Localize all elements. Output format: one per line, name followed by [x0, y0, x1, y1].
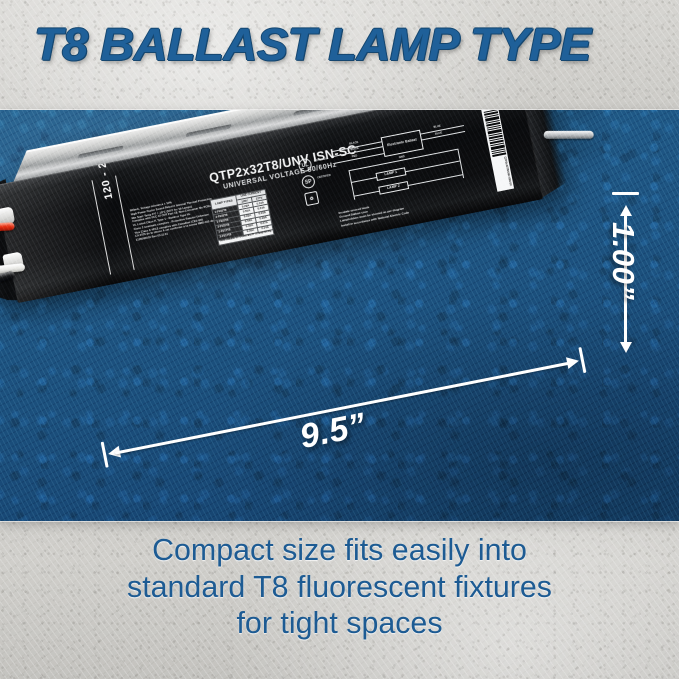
mounting-bracket	[0, 179, 30, 308]
input-wire-white	[0, 263, 25, 281]
arrowhead-right	[566, 354, 580, 368]
table-row: 2-F032T8 0.55A 0.24A	[213, 204, 269, 220]
diagram-bus	[351, 177, 377, 183]
cell-footnote: Also suitable for U-bent and 8' T8 lamp …	[218, 230, 274, 245]
diagram-lead	[333, 146, 382, 156]
caption-line-1: Compact size fits easily into	[7, 532, 672, 569]
caption-line-2: standard T8 fluorescent fixtures	[7, 569, 672, 606]
csa-certified-icon: SP	[301, 174, 316, 189]
diagram-instruction-notes: Insulate unused leads Ground Ballast cas…	[338, 198, 409, 228]
voltage-rule	[91, 180, 111, 274]
diagram-lead	[332, 141, 381, 151]
diagram-bus	[457, 149, 464, 179]
model-number-text: QTP2x32T8/UNV ISN-SC	[208, 143, 358, 186]
th-lamp-types: LAMP TYPES	[210, 195, 238, 210]
th-277v: 277V	[251, 194, 267, 202]
barcode-text: QTP2x32T8/UNV ISN-SC	[493, 156, 513, 188]
diagram-lead	[335, 153, 384, 163]
diagram-tag-blue2: BLUE	[435, 131, 443, 135]
diagram-ballast-box: Electronic Ballast	[381, 130, 424, 157]
table-row: 1-F017T8 0.16A 0.07A	[216, 220, 272, 236]
cell-120v: 0.55A	[239, 207, 255, 215]
csa-certified-caption: CERTIFIED	[317, 174, 331, 180]
table-row: 2-F017T8 0.30A 0.14A	[217, 225, 273, 241]
cell-lamp: 2-F017T8	[217, 230, 244, 240]
spec-line: 660mA, Voltage tolerance ± 10%	[130, 196, 201, 214]
diagram-lead	[421, 125, 464, 134]
caption-line-3: for tight spaces	[7, 605, 672, 642]
spec-line: Min Start Temp 0°F / -18°C (50°F for 59 …	[131, 203, 202, 221]
cell-277v: 0.07A	[256, 220, 272, 228]
ul-listed-caption: LISTED E65	[314, 157, 329, 163]
spec-line: High Power Factor Sound Rated A Internal…	[131, 199, 202, 217]
cell-120v: 0.30A	[243, 227, 259, 235]
cell-277v: 0.10A	[254, 209, 270, 217]
diagram-bus	[348, 149, 458, 171]
voltage-rule	[115, 176, 135, 270]
diagram-bus	[353, 191, 379, 197]
table-row: 1-F032T8 0.29A 0.13A	[212, 199, 268, 215]
table-subheader-row: 120V 277V	[211, 194, 267, 210]
top-slot	[185, 124, 232, 137]
input-wire-black	[0, 270, 15, 299]
diagram-bus	[406, 160, 461, 172]
voltage-rating-text: 120 - 277V	[92, 139, 115, 200]
height-dimension-label: 1.00”	[605, 222, 641, 300]
spec-line: 1120000016 Rev 03.11.01	[136, 225, 207, 243]
spec-line: Complies with FCC 47 CFR Part 18, Non-Co…	[132, 207, 203, 225]
spec-microprint-block: 660mA, Voltage tolerance ± 10% High Powe…	[130, 196, 207, 243]
feature-caption: Compact size fits easily into standard T…	[7, 532, 672, 642]
diagram-lamp1-box: LAMP 1	[375, 167, 406, 181]
cell-120v: 0.29A	[238, 202, 254, 210]
cell-120v: 0.16A	[242, 222, 258, 230]
top-slot	[293, 110, 340, 116]
table-row: 1-F025T8 0.23A 0.10A	[214, 209, 270, 225]
diagram-tag-red: RED	[352, 154, 358, 158]
recycle-icon: ♻	[304, 191, 319, 206]
input-wire-red	[0, 222, 15, 235]
ballast-front-face: 120 - 277V 660mA, Voltage tolerance ± 10…	[0, 110, 544, 303]
table-header-row: LAMP TYPES LINE CURRENT	[210, 189, 266, 205]
cell-277v: 0.19A	[255, 214, 271, 222]
diagram-bus	[408, 174, 463, 186]
ul-listed-icon: UL	[297, 157, 312, 172]
cell-lamp: 1-F032T8	[212, 205, 239, 215]
cell-277v: 0.14A	[257, 225, 273, 233]
diagram-bus	[348, 170, 355, 200]
certification-marks: UL SP ♻	[297, 156, 328, 210]
ballast-product-image: 120 - 277V 660mA, Voltage tolerance ± 10…	[0, 110, 572, 327]
note-line: Insulate unused leads	[338, 198, 407, 216]
page-title: T8 BALLAST LAMP TYPE	[34, 22, 679, 67]
spec-line: This Class A #PC2 complies with Canadian…	[134, 218, 205, 236]
diagram-tag-blue: BLUE	[433, 125, 441, 129]
barcode-label: QTP2x32T8/UNV ISN-SC	[481, 110, 514, 192]
cell-277v: 0.13A	[252, 199, 268, 207]
spec-line: CA 2578 de la classe A est conforme a la…	[135, 221, 206, 239]
diagram-tag-black: BLACK	[349, 141, 359, 146]
cell-277v: 0.24A	[253, 204, 269, 212]
spec-line: UL Listed Class P, Type 1 - Outdoor Type…	[133, 210, 204, 228]
output-wire-gray	[544, 131, 594, 139]
cell-lamp: 2-F032T8	[213, 210, 240, 220]
product-photo-panel: 120 - 277V 660mA, Voltage tolerance ± 10…	[0, 110, 679, 521]
cell-120v: 0.44A	[241, 217, 257, 225]
note-line: Ground Ballast case	[339, 202, 408, 220]
arrowhead-bottom	[620, 342, 632, 353]
wiring-diagram: Electronic Ballast LAMP 1 LAMP 2 BLACK W…	[323, 118, 482, 208]
diagram-lamp2-box: LAMP 2	[378, 181, 409, 195]
th-120v: 120V	[237, 197, 253, 205]
diagram-tag-ground: GND	[399, 155, 405, 159]
line-current-table: LAMP TYPES LINE CURRENT 120V 277V 1-F032…	[210, 189, 275, 246]
th-line-current: LINE CURRENT	[236, 189, 266, 200]
top-slot	[77, 145, 124, 158]
note-line: Lampholders must be shorted as per diagr…	[340, 206, 409, 224]
cell-120v: 0.23A	[240, 212, 256, 220]
cell-lamp: 1-F017T8	[216, 225, 243, 235]
diagram-lead	[422, 131, 465, 140]
dim-tick-top	[612, 192, 639, 195]
spec-line: Class 2 terminals complies - Protective …	[134, 214, 205, 232]
ballast-end-cap	[520, 110, 567, 197]
diagram-tag-white: WHITE	[350, 147, 359, 152]
table-row: 2-F025T8 0.44A 0.19A	[215, 214, 271, 230]
note-line: Install in accordance with National Elec…	[341, 210, 410, 228]
wire-grommet	[2, 251, 24, 271]
wire-grommet	[0, 206, 15, 226]
table-footnote-row: Also suitable for U-bent and 8' T8 lamp …	[218, 230, 274, 245]
voltage-frequency-text: UNIVERSAL VOLTAGE 50/60Hz	[223, 162, 338, 191]
cell-lamp: 2-F025T8	[215, 220, 242, 230]
cell-lamp: 1-F025T8	[214, 215, 241, 225]
ballast-metal-top	[13, 110, 553, 184]
